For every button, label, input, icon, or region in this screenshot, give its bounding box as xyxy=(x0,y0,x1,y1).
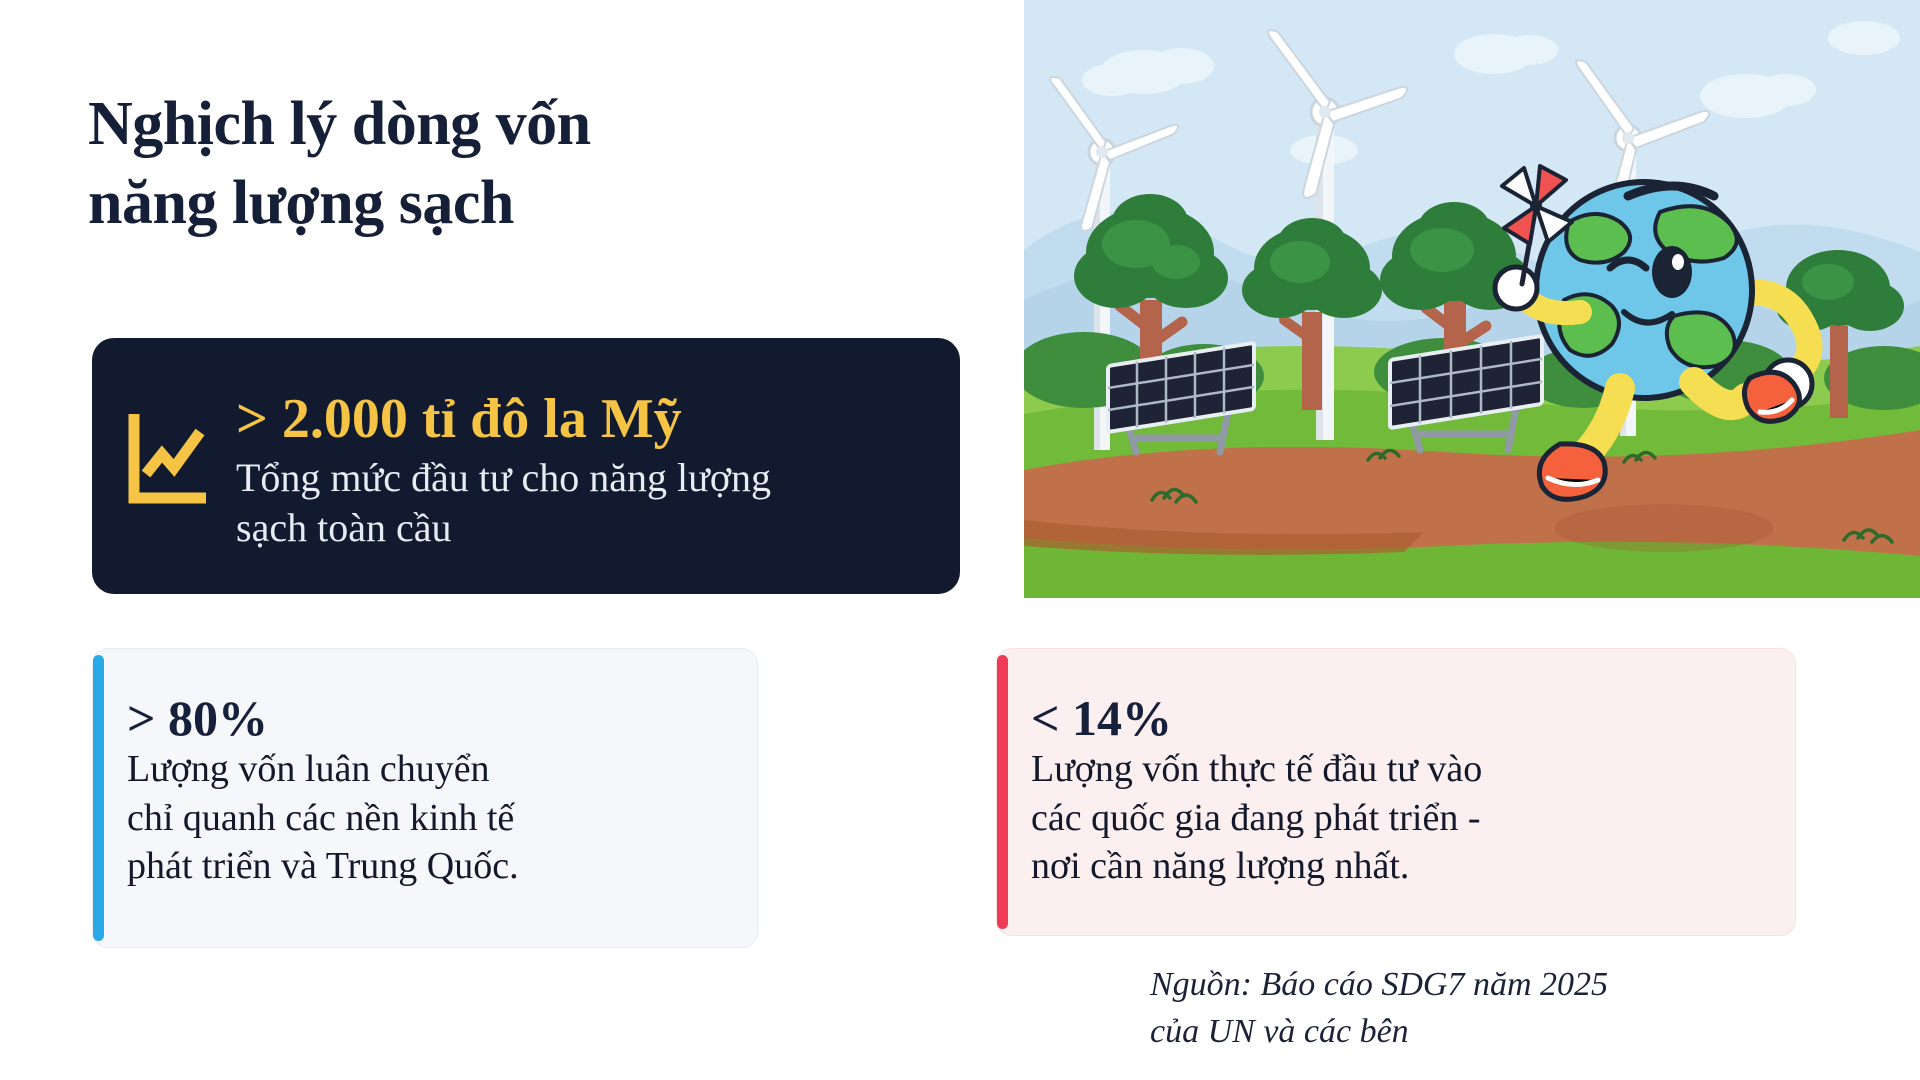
stat-description-80: Lượng vốn luân chuyển chỉ quanh các nền … xyxy=(127,745,727,891)
highlight-desc-line-2: sạch toàn cầu xyxy=(236,503,926,553)
stat-14-line-2: các quốc gia đang phát triển - xyxy=(1031,794,1765,843)
highlight-stat-body: > 2.000 tỉ đô la Mỹ Tổng mức đầu tư cho … xyxy=(236,368,926,553)
clean-energy-illustration xyxy=(1024,0,1920,598)
stat-card-developing-countries: < 14% Lượng vốn thực tế đầu tư vào các q… xyxy=(996,648,1796,936)
stat-80-line-1: Lượng vốn luân chuyển xyxy=(127,745,727,794)
highlight-stat-description: Tổng mức đầu tư cho năng lượng sạch toàn… xyxy=(236,453,926,553)
line-chart-icon xyxy=(126,410,210,506)
source-note: Nguồn: Báo cáo SDG7 năm 2025 của UN và c… xyxy=(1150,962,1840,1056)
stat-80-line-3: phát triển và Trung Quốc. xyxy=(127,842,727,891)
accent-bar-blue xyxy=(93,655,104,941)
stat-80-line-2: chỉ quanh các nền kinh tế xyxy=(127,794,727,843)
stat-value-80: > 80% xyxy=(127,693,727,743)
accent-bar-red xyxy=(997,655,1008,929)
highlight-desc-line-1: Tổng mức đầu tư cho năng lượng xyxy=(236,453,926,503)
source-line-2: của UN và các bên xyxy=(1150,1009,1840,1056)
stat-14-line-1: Lượng vốn thực tế đầu tư vào xyxy=(1031,745,1765,794)
source-line-1: Nguồn: Báo cáo SDG7 năm 2025 xyxy=(1150,962,1840,1009)
stat-14-line-3: nơi cần năng lượng nhất. xyxy=(1031,842,1765,891)
stat-description-14: Lượng vốn thực tế đầu tư vào các quốc gi… xyxy=(1031,745,1765,891)
page-title-line-2: năng lượng sạch xyxy=(88,164,908,243)
page-title-line-1: Nghịch lý dòng vốn xyxy=(88,85,908,164)
highlight-stat-card: > 2.000 tỉ đô la Mỹ Tổng mức đầu tư cho … xyxy=(92,338,960,594)
stat-value-14: < 14% xyxy=(1031,693,1765,743)
page-title: Nghịch lý dòng vốn năng lượng sạch xyxy=(88,85,908,244)
highlight-stat-value: > 2.000 tỉ đô la Mỹ xyxy=(236,390,926,449)
stat-card-developed-economies: > 80% Lượng vốn luân chuyển chỉ quanh cá… xyxy=(92,648,758,948)
